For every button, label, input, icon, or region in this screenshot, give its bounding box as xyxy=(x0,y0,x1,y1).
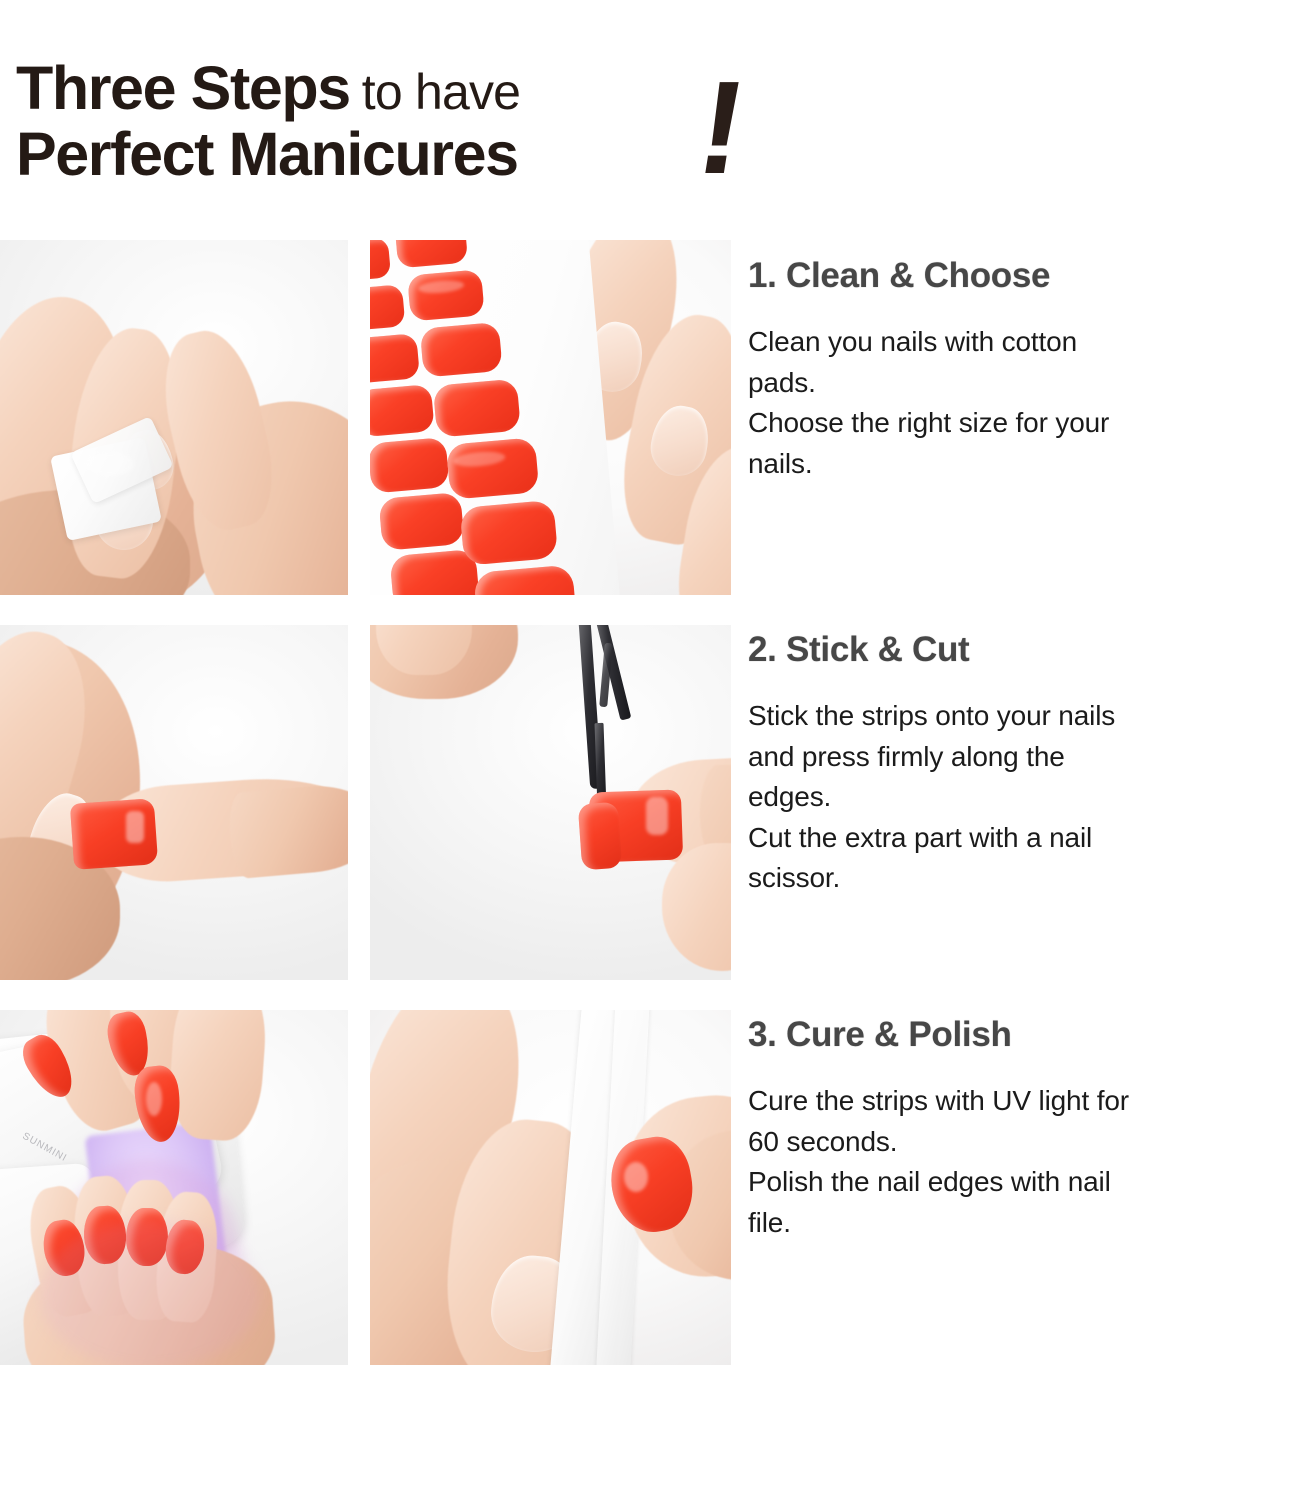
step-3-line-1: Cure the strips with UV light for xyxy=(748,1081,1300,1122)
step-1-line-3: Choose the right size for your xyxy=(748,403,1300,444)
photo-step1-choose-strip-size xyxy=(370,240,731,595)
step-3-line-2: 60 seconds. xyxy=(748,1122,1300,1163)
page-title: Three Stepsto have Perfect Manicures xyxy=(16,58,806,208)
photo-step3-polish-edges-with-file xyxy=(370,1010,731,1365)
photo-step3-cure-under-uv-lamp: SUNMINI xyxy=(0,1010,348,1365)
title-line-2: Perfect Manicures xyxy=(16,124,518,185)
photo-step1-clean-with-cotton-pad xyxy=(0,240,348,595)
step-2-line-1: Stick the strips onto your nails xyxy=(748,696,1300,737)
step-1-body: Clean you nails with cotton pads. Choose… xyxy=(748,322,1300,484)
step-1-heading: 1. Clean & Choose xyxy=(748,256,1300,296)
title-strong-1: Three Steps xyxy=(16,54,350,122)
step-2-line-4: Cut the extra part with a nail xyxy=(748,818,1300,859)
title-line-1: Three Stepsto have xyxy=(16,58,520,119)
photo-row-step-2 xyxy=(0,625,731,980)
step-2-heading: 2. Stick & Cut xyxy=(748,630,1300,670)
step-2-line-2: and press firmly along the xyxy=(748,737,1300,778)
step-3: 3. Cure & Polish Cure the strips with UV… xyxy=(748,1015,1300,1243)
step-3-line-4: file. xyxy=(748,1203,1300,1244)
step-1: 1. Clean & Choose Clean you nails with c… xyxy=(748,256,1300,484)
step-2: 2. Stick & Cut Stick the strips onto you… xyxy=(748,630,1300,899)
photo-row-step-1 xyxy=(0,240,731,595)
step-1-line-1: Clean you nails with cotton xyxy=(748,322,1300,363)
step-1-line-2: pads. xyxy=(748,363,1300,404)
photo-row-step-3: SUNMINI xyxy=(0,1010,731,1365)
step-2-body: Stick the strips onto your nails and pre… xyxy=(748,696,1300,899)
photo-step2-stick-strip-on-nail xyxy=(0,625,348,980)
step-3-line-3: Polish the nail edges with nail xyxy=(748,1162,1300,1203)
infographic-page: Three Stepsto have Perfect Manicures ! xyxy=(0,0,1300,1500)
step-2-line-3: edges. xyxy=(748,777,1300,818)
title-light-1: to have xyxy=(350,64,520,120)
photo-grid: SUNMINI xyxy=(0,240,731,1365)
title-strong-2: Perfect Manicures xyxy=(16,120,518,188)
photo-step2-cut-extra-with-scissor xyxy=(370,625,731,980)
step-3-body: Cure the strips with UV light for 60 sec… xyxy=(748,1081,1300,1243)
step-3-heading: 3. Cure & Polish xyxy=(748,1015,1300,1055)
step-1-line-4: nails. xyxy=(748,444,1300,485)
step-2-line-5: scissor. xyxy=(748,858,1300,899)
